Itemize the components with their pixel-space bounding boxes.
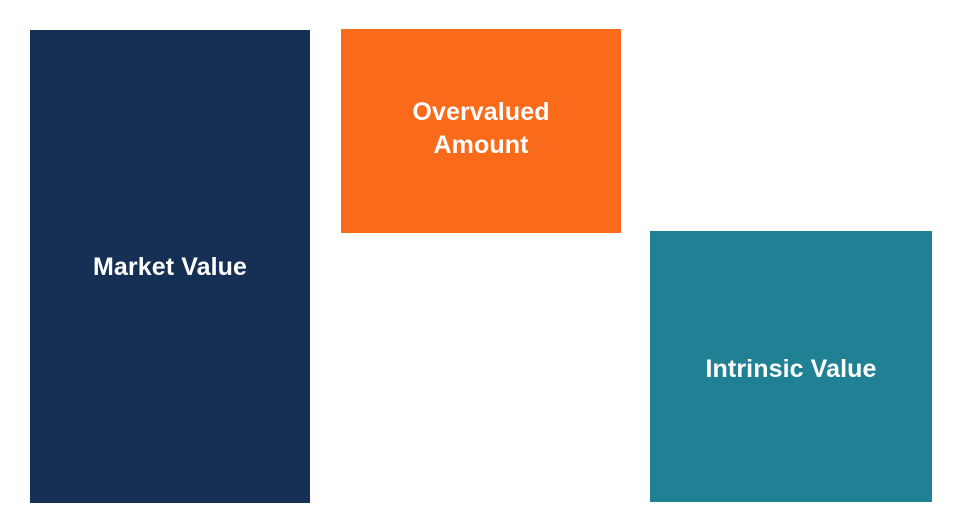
- bar-overvalued-amount[interactable]: Overvalued Amount: [341, 29, 621, 233]
- bar-overvalued-amount-label: Overvalued Amount: [341, 96, 621, 162]
- bar-market-value[interactable]: Market Value: [30, 30, 310, 503]
- bar-market-value-label: Market Value: [30, 251, 310, 284]
- bar-intrinsic-value-label: Intrinsic Value: [650, 353, 932, 386]
- valuation-waterfall-chart: Market Value Overvalued Amount Intrinsic…: [0, 0, 962, 528]
- bar-intrinsic-value[interactable]: Intrinsic Value: [650, 231, 932, 502]
